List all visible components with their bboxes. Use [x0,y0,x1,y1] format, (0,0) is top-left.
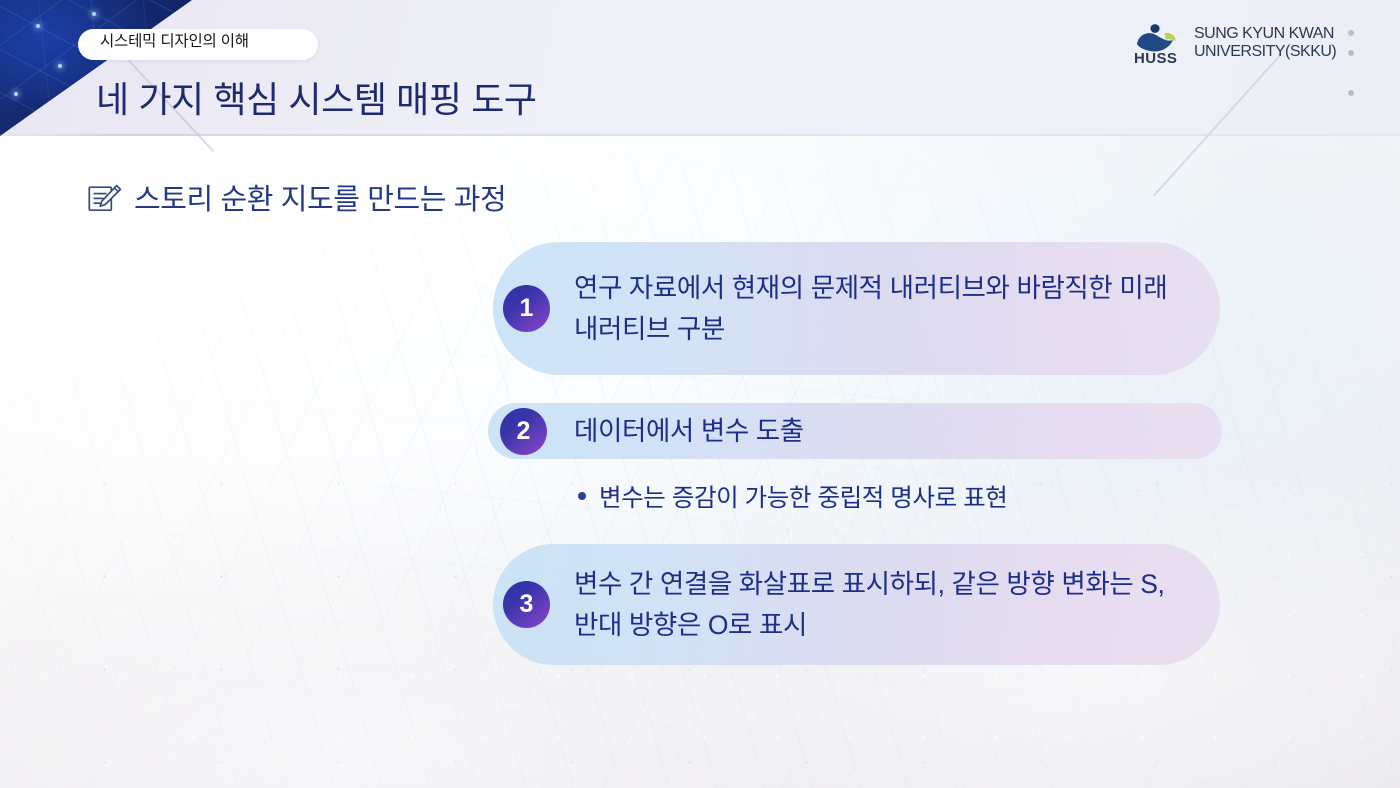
bullet-dot-icon [578,492,586,500]
decorative-dot [1348,90,1354,96]
slide-canvas: 시스테믹 디자인의 이해 네 가지 핵심 시스템 매핑 도구 HUSS SUNG… [0,0,1400,788]
university-logo-text: SUNG KYUN KWAN UNIVERSITY(SKKU) [1194,25,1336,61]
header-decorative-dots [1348,30,1354,96]
step-item-2: 2 데이터에서 변수 도출 [488,403,1222,459]
decorative-dot [1348,50,1354,56]
huss-logo-icon: HUSS [1133,20,1183,66]
bullet-text: 변수는 증감이 가능한 중립적 명사로 표현 [599,482,1007,516]
page-title: 네 가지 핵심 시스템 매핑 도구 [96,78,537,122]
network-node-dot [14,92,18,96]
logo-text-line-1: SUNG KYUN KWAN [1194,25,1334,42]
university-logo: HUSS SUNG KYUN KWAN UNIVERSITY(SKKU) [1133,20,1336,66]
decorative-dot [1348,30,1354,36]
svg-text:HUSS: HUSS [1134,50,1177,66]
bullet-item: 변수는 증감이 가능한 중립적 명사로 표현 [578,482,1007,516]
logo-text-line-2: UNIVERSITY(SKKU) [1194,43,1336,60]
step-number-badge: 2 [500,408,547,455]
network-node-dot [58,64,62,68]
step-item-3: 3 변수 간 연결을 화살표로 표시하되, 같은 방향 변화는 S, 반대 방향… [493,544,1220,665]
step-text: 연구 자료에서 현재의 문제적 내러티브와 바람직한 미래 내러티브 구분 [574,268,1192,350]
step-text: 데이터에서 변수 도출 [574,411,804,452]
network-node-dot [36,24,40,28]
network-node-dot [92,12,96,16]
subheading-label: 스토리 순환 지도를 만드는 과정 [134,181,506,219]
step-item-1: 1 연구 자료에서 현재의 문제적 내러티브와 바람직한 미래 내러티브 구분 [493,242,1220,375]
breadcrumb-label: 시스테믹 디자인의 이해 [100,30,315,53]
memo-pencil-icon [88,184,122,216]
step-number-badge: 3 [503,581,550,628]
step-text: 변수 간 연결을 화살표로 표시하되, 같은 방향 변화는 S, 반대 방향은 … [574,564,1184,646]
step-number-badge: 1 [503,285,550,332]
subheading-row: 스토리 순환 지도를 만드는 과정 [88,181,506,219]
